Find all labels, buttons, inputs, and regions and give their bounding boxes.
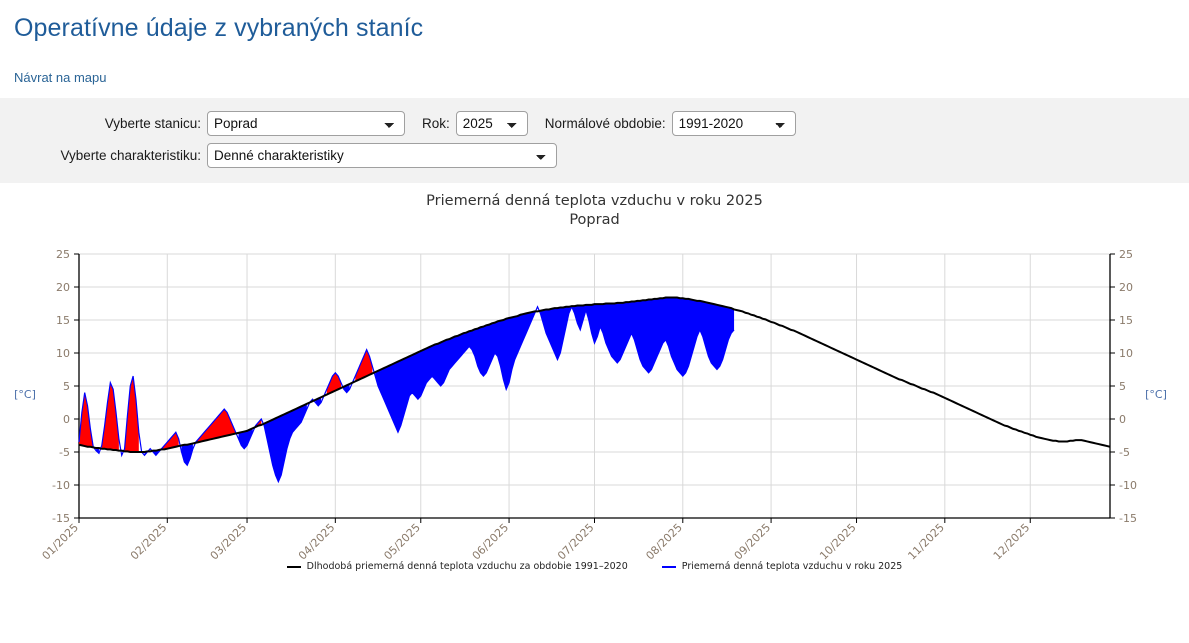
chart-legend: Dlhodobá priemerná denná teplota vzduchu… [0, 561, 1189, 572]
page-title: Operatívne údaje z vybraných staníc [0, 0, 1189, 43]
characteristic-select[interactable]: Denné charakteristiky [207, 143, 557, 168]
chart-title-line1: Priemerná denná teplota vzduchu v roku 2… [0, 192, 1189, 211]
svg-text:08/2025: 08/2025 [643, 521, 685, 560]
chart-title: Priemerná denná teplota vzduchu v roku 2… [0, 183, 1189, 230]
year-label: Rok: [405, 116, 456, 131]
chart-title-line2: Poprad [0, 211, 1189, 230]
svg-text:0: 0 [1119, 413, 1126, 426]
control-row-station: Vyberte stanicu: Poprad Rok: 2025 Normál… [0, 110, 1189, 137]
svg-text:25: 25 [56, 248, 70, 261]
svg-text:04/2025: 04/2025 [296, 521, 338, 560]
legend-item-1: Priemerná denná teplota vzduchu v roku 2… [662, 561, 903, 572]
station-select[interactable]: Poprad [207, 111, 405, 136]
svg-text:01/2025: 01/2025 [40, 521, 82, 560]
svg-text:5: 5 [1119, 380, 1126, 393]
svg-text:11/2025: 11/2025 [905, 521, 947, 560]
svg-text:07/2025: 07/2025 [555, 521, 597, 560]
svg-text:06/2025: 06/2025 [470, 521, 512, 560]
svg-text:[°C]: [°C] [14, 388, 36, 401]
svg-text:12/2025: 12/2025 [991, 521, 1033, 560]
normal-period-select[interactable]: 1991-2020 [672, 111, 796, 136]
legend-swatch-0 [287, 566, 301, 568]
legend-swatch-1 [662, 566, 676, 568]
svg-text:-10: -10 [1119, 479, 1137, 492]
controls-panel: Vyberte stanicu: Poprad Rok: 2025 Normál… [0, 98, 1189, 183]
svg-text:[°C]: [°C] [1145, 388, 1167, 401]
svg-text:10/2025: 10/2025 [817, 521, 859, 560]
svg-text:-10: -10 [52, 479, 70, 492]
svg-text:-5: -5 [1119, 446, 1130, 459]
control-row-characteristic: Vyberte charakteristiku: Denné charakter… [0, 142, 1189, 169]
normal-period-label: Normálové obdobie: [528, 116, 672, 131]
svg-text:02/2025: 02/2025 [128, 521, 170, 560]
svg-text:15: 15 [1119, 314, 1133, 327]
svg-text:20: 20 [1119, 281, 1133, 294]
legend-label-0: Dlhodobá priemerná denná teplota vzduchu… [307, 561, 628, 572]
temperature-chart: -15-15-10-10-5-50055101015152020252501/2… [0, 230, 1189, 560]
svg-text:10: 10 [1119, 347, 1133, 360]
chart-container: Priemerná denná teplota vzduchu v roku 2… [0, 183, 1189, 583]
svg-text:05/2025: 05/2025 [381, 521, 423, 560]
legend-label-1: Priemerná denná teplota vzduchu v roku 2… [682, 561, 903, 572]
svg-text:-5: -5 [59, 446, 70, 459]
svg-text:03/2025: 03/2025 [208, 521, 250, 560]
svg-text:-15: -15 [1119, 512, 1137, 525]
svg-text:-15: -15 [52, 512, 70, 525]
svg-text:10: 10 [56, 347, 70, 360]
station-label: Vyberte stanicu: [0, 116, 207, 131]
characteristic-label: Vyberte charakteristiku: [0, 148, 207, 163]
svg-text:15: 15 [56, 314, 70, 327]
back-to-map-link[interactable]: Návrat na mapu [0, 43, 107, 85]
svg-text:09/2025: 09/2025 [732, 521, 774, 560]
legend-item-0: Dlhodobá priemerná denná teplota vzduchu… [287, 561, 628, 572]
year-select[interactable]: 2025 [456, 111, 528, 136]
svg-text:5: 5 [63, 380, 70, 393]
svg-text:25: 25 [1119, 248, 1133, 261]
svg-text:20: 20 [56, 281, 70, 294]
svg-text:0: 0 [63, 413, 70, 426]
